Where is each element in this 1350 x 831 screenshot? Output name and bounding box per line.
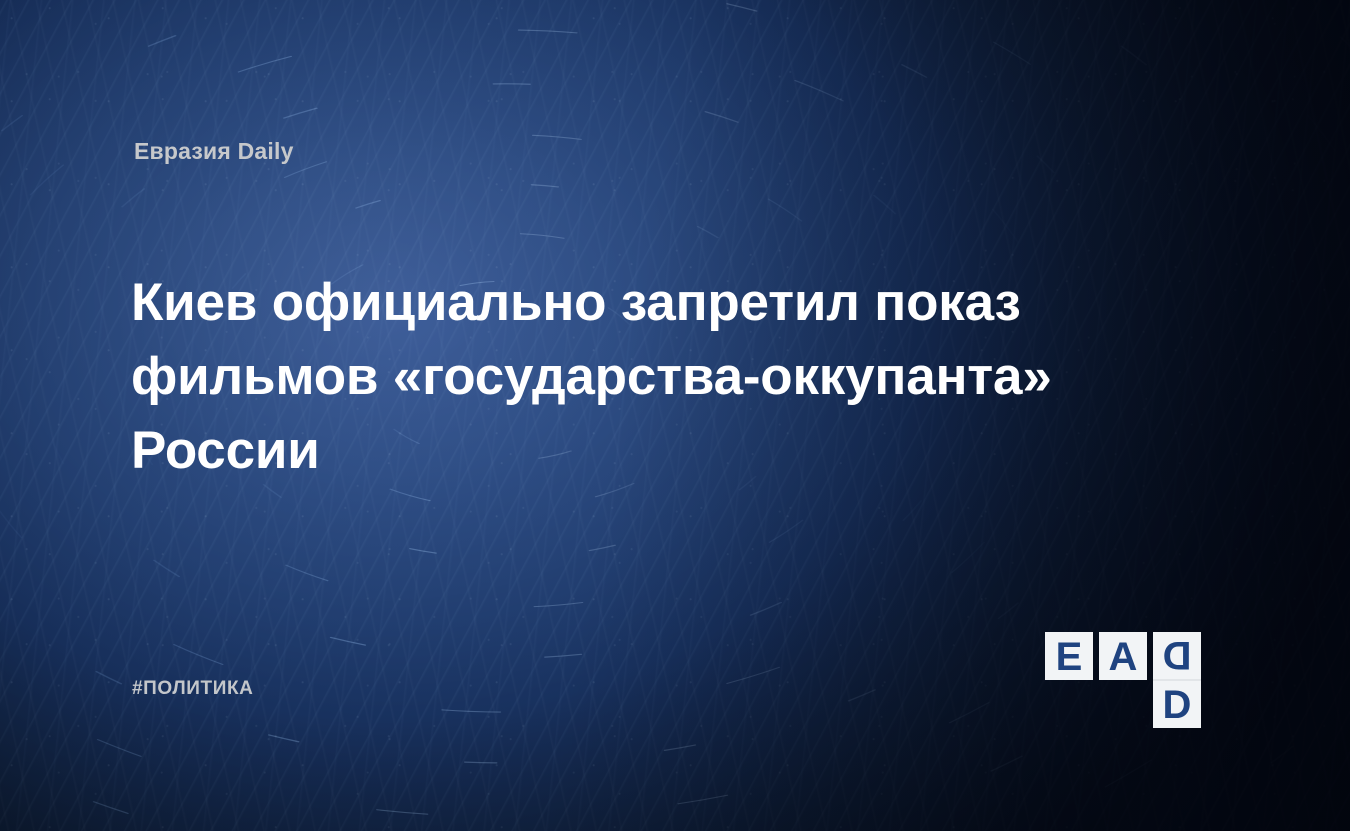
svg-text:A: A (1109, 635, 1138, 679)
brand-name: Евразия Daily (134, 138, 294, 165)
svg-text:E: E (1056, 635, 1083, 679)
article-headline: Киев официально запретил показ фильмов «… (131, 266, 1121, 488)
news-card: Евразия Daily Киев официально запретил п… (0, 0, 1350, 831)
svg-text:D: D (1163, 633, 1192, 677)
card-content: Евразия Daily Киев официально запретил п… (0, 0, 1350, 831)
category-hashtag: #ПОЛИТИКА (132, 678, 254, 700)
svg-text:D: D (1163, 683, 1192, 727)
eadaily-logo: E A D D (1045, 632, 1221, 728)
